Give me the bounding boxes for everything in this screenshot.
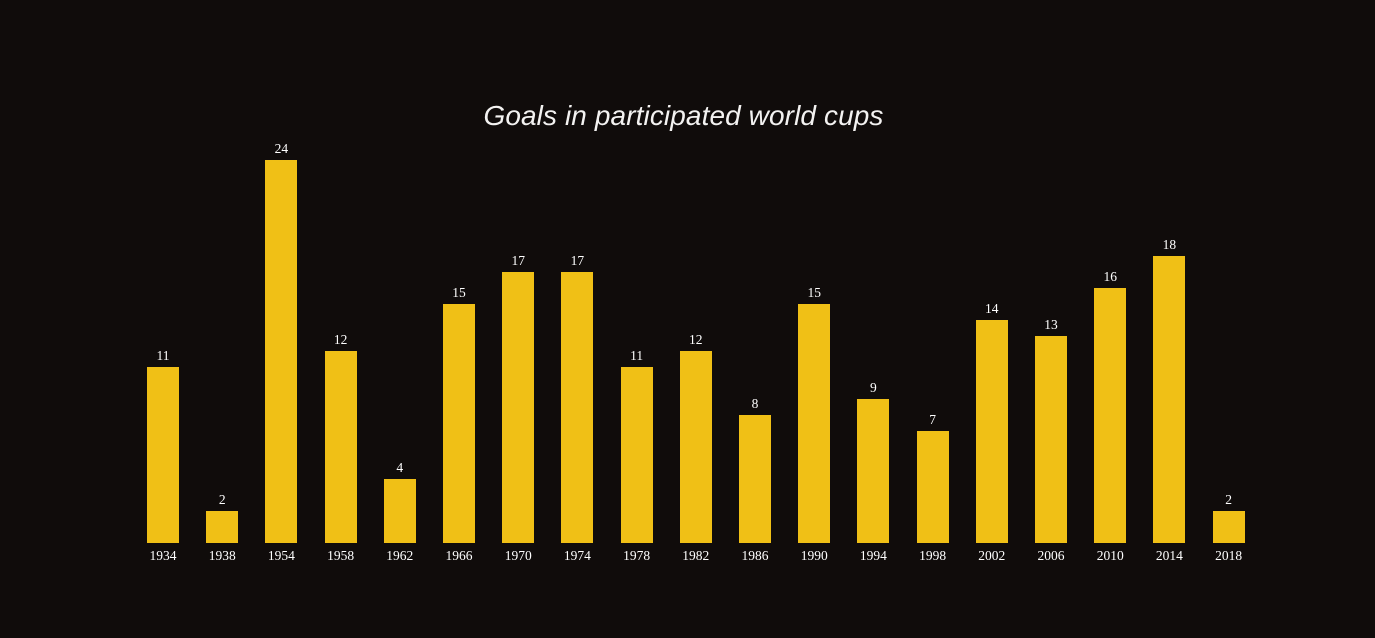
- bar-value-label: 2: [192, 492, 252, 507]
- bar-rect[interactable]: [917, 431, 949, 543]
- x-axis-tick-label: 2010: [1080, 548, 1140, 564]
- bar-group: 91994: [857, 399, 889, 543]
- bar-value-label: 12: [311, 332, 371, 347]
- bar-group: 21938: [206, 511, 238, 543]
- x-axis-tick-label: 1986: [725, 548, 785, 564]
- bar-group: 151990: [798, 304, 830, 543]
- x-axis-tick-label: 1990: [784, 548, 844, 564]
- bar-group: 171970: [502, 272, 534, 543]
- bar-group: 111934: [147, 367, 179, 543]
- bar-group: 121982: [680, 351, 712, 543]
- bar-value-label: 4: [370, 460, 430, 475]
- bar-rect[interactable]: [976, 320, 1008, 543]
- x-axis-tick-label: 1970: [488, 548, 548, 564]
- bar-group: 151966: [443, 304, 475, 543]
- bar-rect[interactable]: [325, 351, 357, 543]
- x-axis-tick-label: 1982: [666, 548, 726, 564]
- bar-value-label: 7: [903, 412, 963, 427]
- bar-rect[interactable]: [621, 367, 653, 543]
- bar-value-label: 17: [547, 253, 607, 268]
- bar-value-label: 14: [962, 301, 1022, 316]
- bar-rect[interactable]: [1094, 288, 1126, 543]
- bar-group: 71998: [917, 431, 949, 543]
- x-axis-tick-label: 2014: [1139, 548, 1199, 564]
- bar-group: 142002: [976, 320, 1008, 543]
- x-axis-tick-label: 1978: [607, 548, 667, 564]
- plot-area: 1119342193824195412195841962151966171970…: [147, 160, 1249, 570]
- bar-value-label: 16: [1080, 269, 1140, 284]
- bar-chart: Goals in participated world cups 1119342…: [0, 0, 1375, 638]
- bar-rect[interactable]: [265, 160, 297, 543]
- bar-value-label: 24: [251, 141, 311, 156]
- bar-rect[interactable]: [206, 511, 238, 543]
- bar-group: 162010: [1094, 288, 1126, 543]
- bar-value-label: 11: [133, 348, 193, 363]
- x-axis-tick-label: 2018: [1199, 548, 1259, 564]
- bar-value-label: 9: [843, 380, 903, 395]
- bar-value-label: 15: [784, 285, 844, 300]
- x-axis-tick-label: 1958: [311, 548, 371, 564]
- bar-value-label: 2: [1199, 492, 1259, 507]
- bar-rect[interactable]: [384, 479, 416, 543]
- bar-rect[interactable]: [443, 304, 475, 543]
- bar-group: 81986: [739, 415, 771, 543]
- x-axis-tick-label: 1938: [192, 548, 252, 564]
- bar-value-label: 12: [666, 332, 726, 347]
- bar-rect[interactable]: [147, 367, 179, 543]
- bar-rect[interactable]: [1035, 336, 1067, 543]
- bar-value-label: 15: [429, 285, 489, 300]
- x-axis-tick-label: 1998: [903, 548, 963, 564]
- x-axis-tick-label: 1974: [547, 548, 607, 564]
- bar-rect[interactable]: [561, 272, 593, 543]
- bar-group: 41962: [384, 479, 416, 543]
- bar-rect[interactable]: [739, 415, 771, 543]
- bar-rect[interactable]: [1153, 256, 1185, 543]
- chart-title: Goals in participated world cups: [0, 99, 1375, 133]
- x-axis-tick-label: 2006: [1021, 548, 1081, 564]
- x-axis-tick-label: 2002: [962, 548, 1022, 564]
- bar-group: 132006: [1035, 336, 1067, 543]
- bar-rect[interactable]: [1213, 511, 1245, 543]
- bar-value-label: 17: [488, 253, 548, 268]
- x-axis-tick-label: 1962: [370, 548, 430, 564]
- bar-rect[interactable]: [680, 351, 712, 543]
- bar-group: 182014: [1153, 256, 1185, 543]
- bar-rect[interactable]: [798, 304, 830, 543]
- bar-rect[interactable]: [502, 272, 534, 543]
- x-axis-tick-label: 1966: [429, 548, 489, 564]
- bar-value-label: 18: [1139, 237, 1199, 252]
- bar-value-label: 11: [607, 348, 667, 363]
- x-axis-tick-label: 1934: [133, 548, 193, 564]
- bar-value-label: 13: [1021, 317, 1081, 332]
- bar-rect[interactable]: [857, 399, 889, 543]
- bar-group: 22018: [1213, 511, 1245, 543]
- x-axis-tick-label: 1994: [843, 548, 903, 564]
- bar-group: 111978: [621, 367, 653, 543]
- bar-value-label: 8: [725, 396, 785, 411]
- bar-group: 241954: [265, 160, 297, 543]
- bar-group: 171974: [561, 272, 593, 543]
- bar-group: 121958: [325, 351, 357, 543]
- x-axis-tick-label: 1954: [251, 548, 311, 564]
